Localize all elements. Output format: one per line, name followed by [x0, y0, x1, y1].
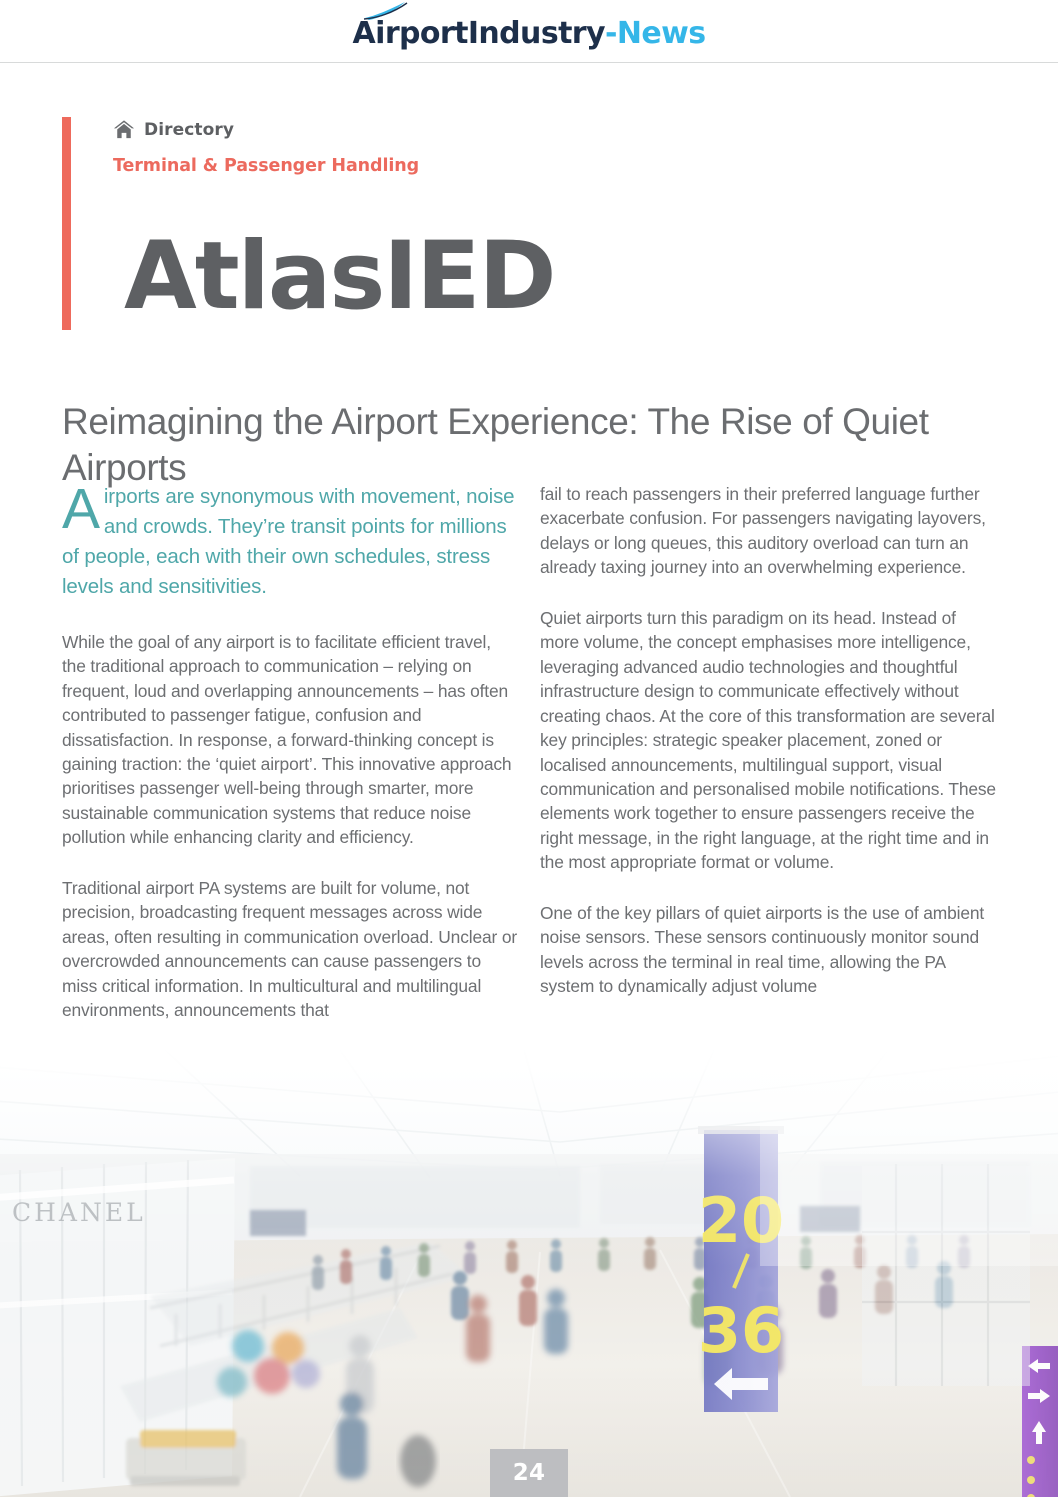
logo-text-primary: AirportIndustry: [353, 16, 605, 51]
body-column-left: Airports are synonymous with movement, n…: [62, 482, 518, 1022]
article-headline: Reimagining the Airport Experience: The …: [62, 399, 1006, 491]
breadcrumb[interactable]: Directory: [113, 119, 234, 140]
page-number: 24: [490, 1449, 568, 1497]
category-label[interactable]: Terminal & Passenger Handling: [113, 156, 419, 176]
svg-text:36: 36: [698, 1294, 784, 1367]
svg-text:CHANEL: CHANEL: [12, 1198, 146, 1227]
paragraph: fail to reach passengers in their prefer…: [540, 482, 996, 580]
site-logo[interactable]: AirportIndustry -News: [353, 16, 706, 51]
body-column-right: fail to reach passengers in their prefer…: [540, 482, 996, 999]
accent-bar: [62, 117, 71, 330]
home-icon: [113, 119, 135, 140]
company-title: AtlasIED: [124, 230, 555, 324]
paragraph: Traditional airport PA systems are built…: [62, 876, 518, 1023]
paragraph: While the goal of any airport is to faci…: [62, 630, 518, 850]
breadcrumb-label: Directory: [144, 120, 234, 140]
logo-text-secondary: -News: [605, 16, 705, 51]
masthead-header: AirportIndustry -News: [0, 0, 1058, 63]
photo-illustration: CHANEL: [0, 1046, 1058, 1497]
airport-terminal-photo: CHANEL: [0, 1046, 1058, 1497]
magazine-page: AirportIndustry -News Directory Terminal…: [0, 0, 1058, 1497]
paragraph: Quiet airports turn this paradigm on its…: [540, 606, 996, 875]
airplane-swoosh-icon: [363, 1, 409, 21]
paragraph: One of the key pillars of quiet airports…: [540, 901, 996, 999]
lead-paragraph: Airports are synonymous with movement, n…: [62, 482, 518, 602]
